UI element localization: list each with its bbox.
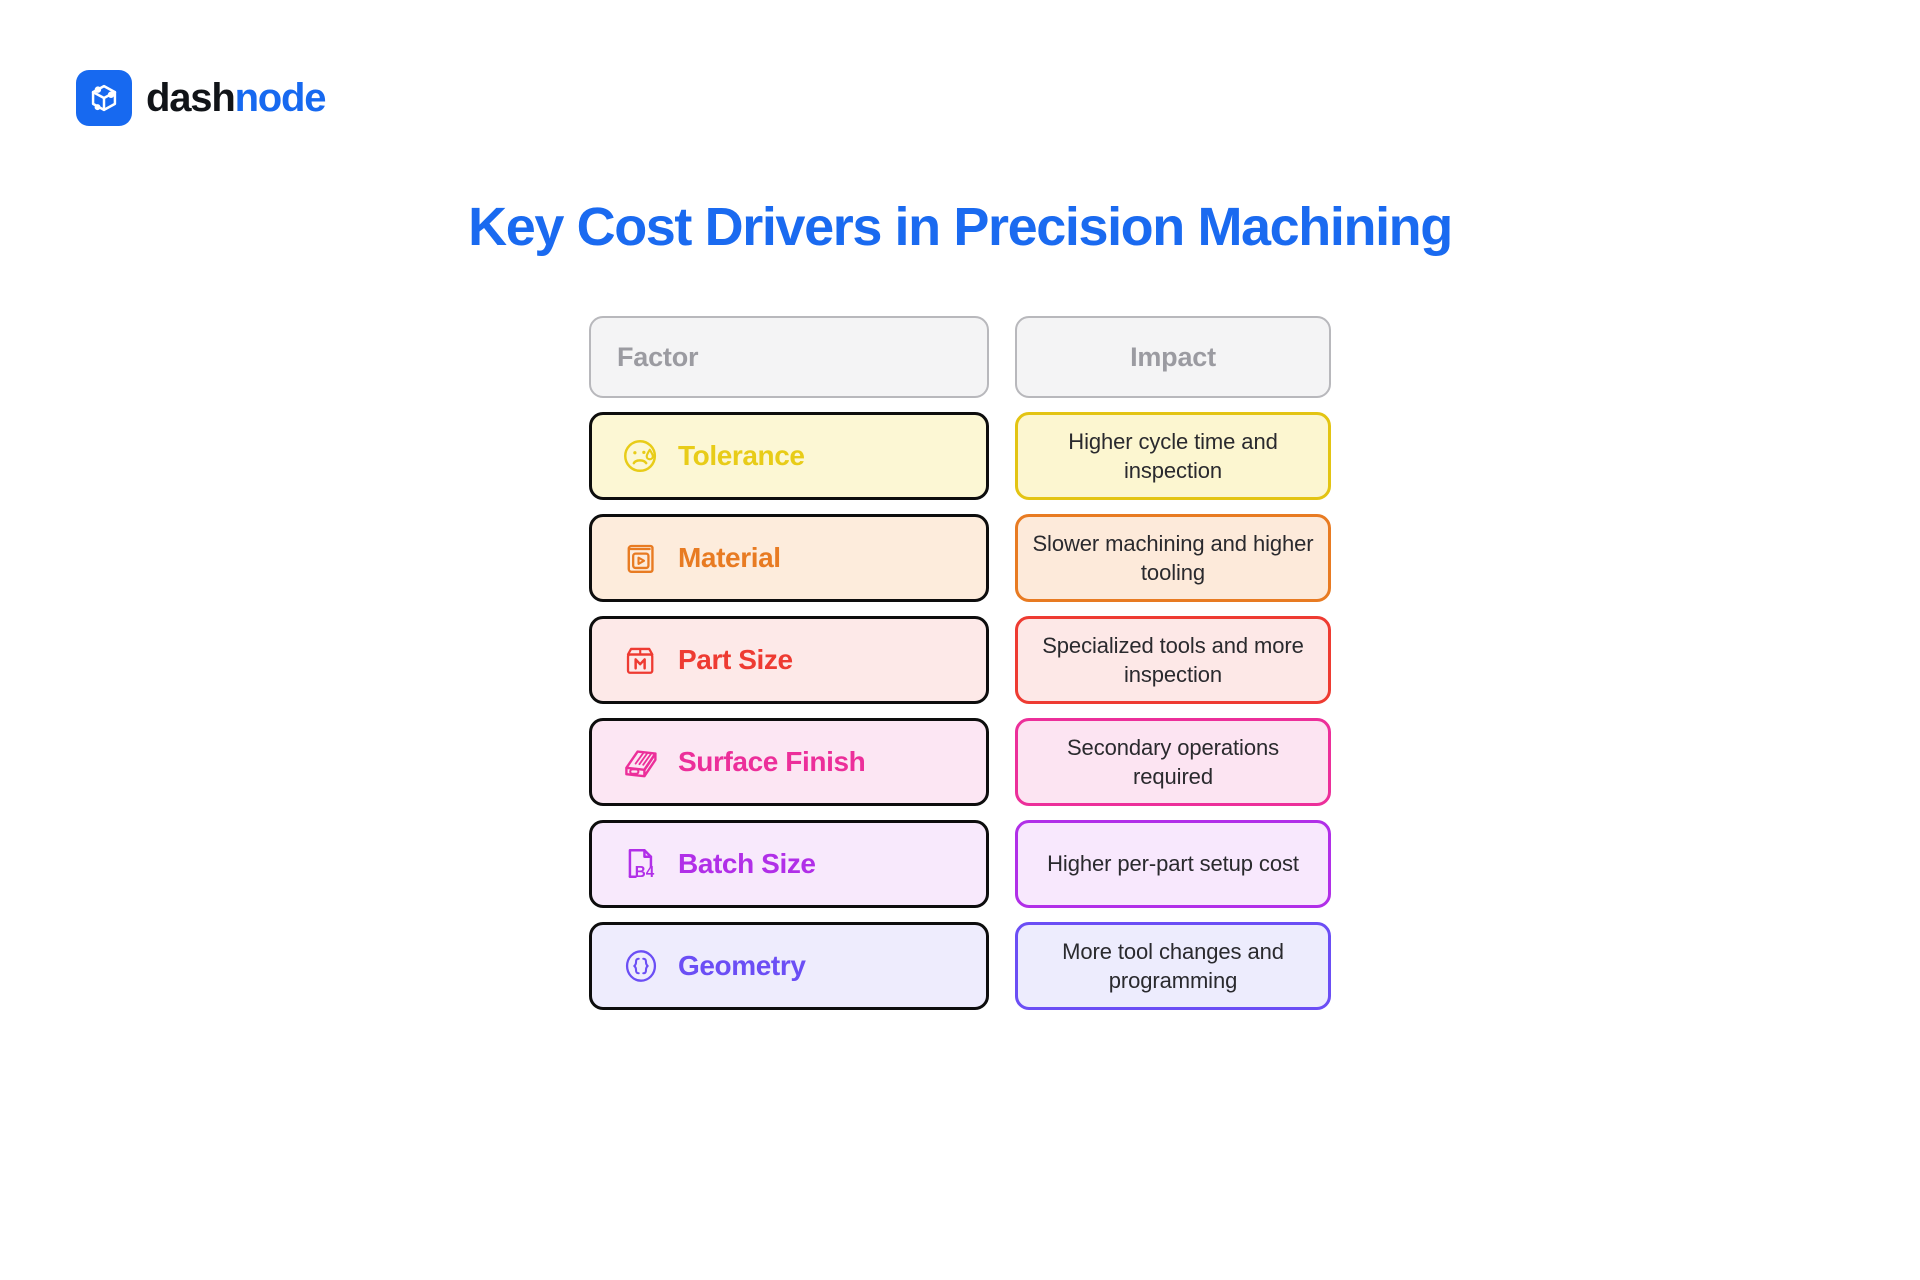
table-row: B4 Batch Size Higher per-part setup cost (589, 820, 1331, 908)
factor-label: Part Size (678, 644, 793, 676)
book-play-icon (618, 535, 664, 581)
file-b4-icon: B4 (618, 841, 664, 887)
factor-label: Batch Size (678, 848, 816, 880)
table-row: Material Slower machining and higher too… (589, 514, 1331, 602)
impact-cell-batch-size[interactable]: Higher per-part setup cost (1015, 820, 1331, 908)
factor-cell-geometry[interactable]: Geometry (589, 922, 989, 1010)
impact-text: Higher per-part setup cost (1047, 849, 1299, 878)
crying-face-icon (618, 433, 664, 479)
brand-wordmark: dashnode (146, 78, 325, 118)
brand-name-second: node (235, 76, 326, 120)
table-row: Tolerance Higher cycle time and inspecti… (589, 412, 1331, 500)
impact-cell-geometry[interactable]: More tool changes and programming (1015, 922, 1331, 1010)
package-box-m-icon (618, 637, 664, 683)
table-row: Part Size Specialized tools and more ins… (589, 616, 1331, 704)
factor-cell-material[interactable]: Material (589, 514, 989, 602)
factor-label: Surface Finish (678, 746, 865, 778)
impact-text: Higher cycle time and inspection (1032, 427, 1314, 486)
header-cell-factor: Factor (589, 316, 989, 398)
factor-cell-part-size[interactable]: Part Size (589, 616, 989, 704)
impact-cell-surface-finish[interactable]: Secondary operations required (1015, 718, 1331, 806)
header-cell-impact: Impact (1015, 316, 1331, 398)
impact-cell-material[interactable]: Slower machining and higher tooling (1015, 514, 1331, 602)
header-label-factor: Factor (617, 342, 698, 373)
cube-node-icon (76, 70, 132, 126)
factor-label: Tolerance (678, 440, 805, 472)
curly-braces-circle-icon (618, 943, 664, 989)
table-row: Geometry More tool changes and programmi… (589, 922, 1331, 1010)
impact-text: More tool changes and programming (1032, 937, 1314, 996)
header-label-impact: Impact (1130, 342, 1216, 373)
cost-drivers-table: Factor Impact Tolerance Higher cycle tim… (589, 316, 1331, 1010)
eraser-icon (618, 739, 664, 785)
page-title: Key Cost Drivers in Precision Machining (0, 196, 1920, 258)
impact-text: Secondary operations required (1032, 733, 1314, 792)
table-row: Surface Finish Secondary operations requ… (589, 718, 1331, 806)
factor-cell-surface-finish[interactable]: Surface Finish (589, 718, 989, 806)
table-header-row: Factor Impact (589, 316, 1331, 398)
brand-logo: dashnode (76, 70, 325, 126)
factor-label: Geometry (678, 950, 806, 982)
impact-text: Specialized tools and more inspection (1032, 631, 1314, 690)
impact-text: Slower machining and higher tooling (1032, 529, 1314, 588)
impact-cell-part-size[interactable]: Specialized tools and more inspection (1015, 616, 1331, 704)
brand-name-first: dash (146, 76, 235, 120)
factor-cell-batch-size[interactable]: B4 Batch Size (589, 820, 989, 908)
svg-text:B4: B4 (635, 864, 655, 881)
impact-cell-tolerance[interactable]: Higher cycle time and inspection (1015, 412, 1331, 500)
factor-cell-tolerance[interactable]: Tolerance (589, 412, 989, 500)
factor-label: Material (678, 542, 781, 574)
